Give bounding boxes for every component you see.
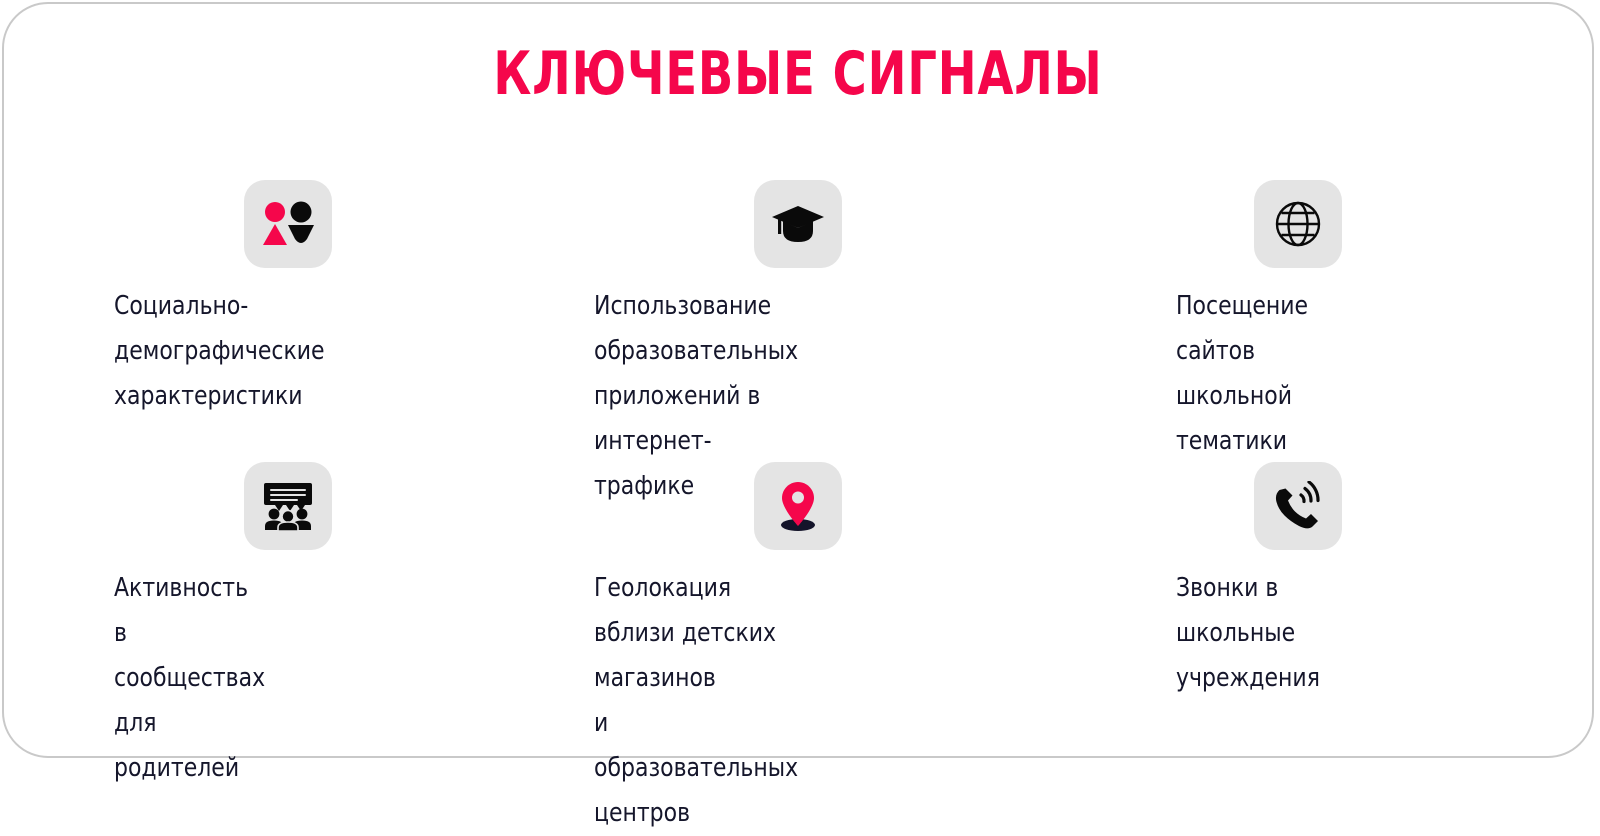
ringing-phone-icon: [1254, 462, 1342, 550]
demographics-people-icon-glyph: [262, 201, 314, 247]
key-signals-card: КЛЮЧЕВЫЕ СИГНАЛЫ Социально-демографическ…: [2, 2, 1594, 758]
signal-label: Активность в сообществах для родителей: [114, 566, 265, 791]
globe-icon: [1254, 180, 1342, 268]
community-chat-icon-glyph: [261, 481, 315, 531]
map-pin-icon-glyph: [775, 480, 821, 532]
ringing-phone-icon-glyph: [1273, 481, 1323, 531]
signal-label: Посещение сайтов школьной тематики: [1176, 284, 1308, 464]
signal-label: Геолокация вблизи детских магазинов и об…: [594, 566, 798, 836]
graduation-cap-icon-glyph: [771, 203, 825, 245]
demographics-people-icon: [244, 180, 332, 268]
globe-icon-glyph: [1274, 200, 1322, 248]
signal-label: Социально-демографические характеристики: [114, 284, 325, 419]
map-pin-icon: [754, 462, 842, 550]
community-chat-icon: [244, 462, 332, 550]
page-title: КЛЮЧЕВЫЕ СИГНАЛЫ: [115, 42, 1481, 106]
signal-label: Звонки в школьные учреждения: [1176, 566, 1320, 701]
graduation-cap-icon: [754, 180, 842, 268]
